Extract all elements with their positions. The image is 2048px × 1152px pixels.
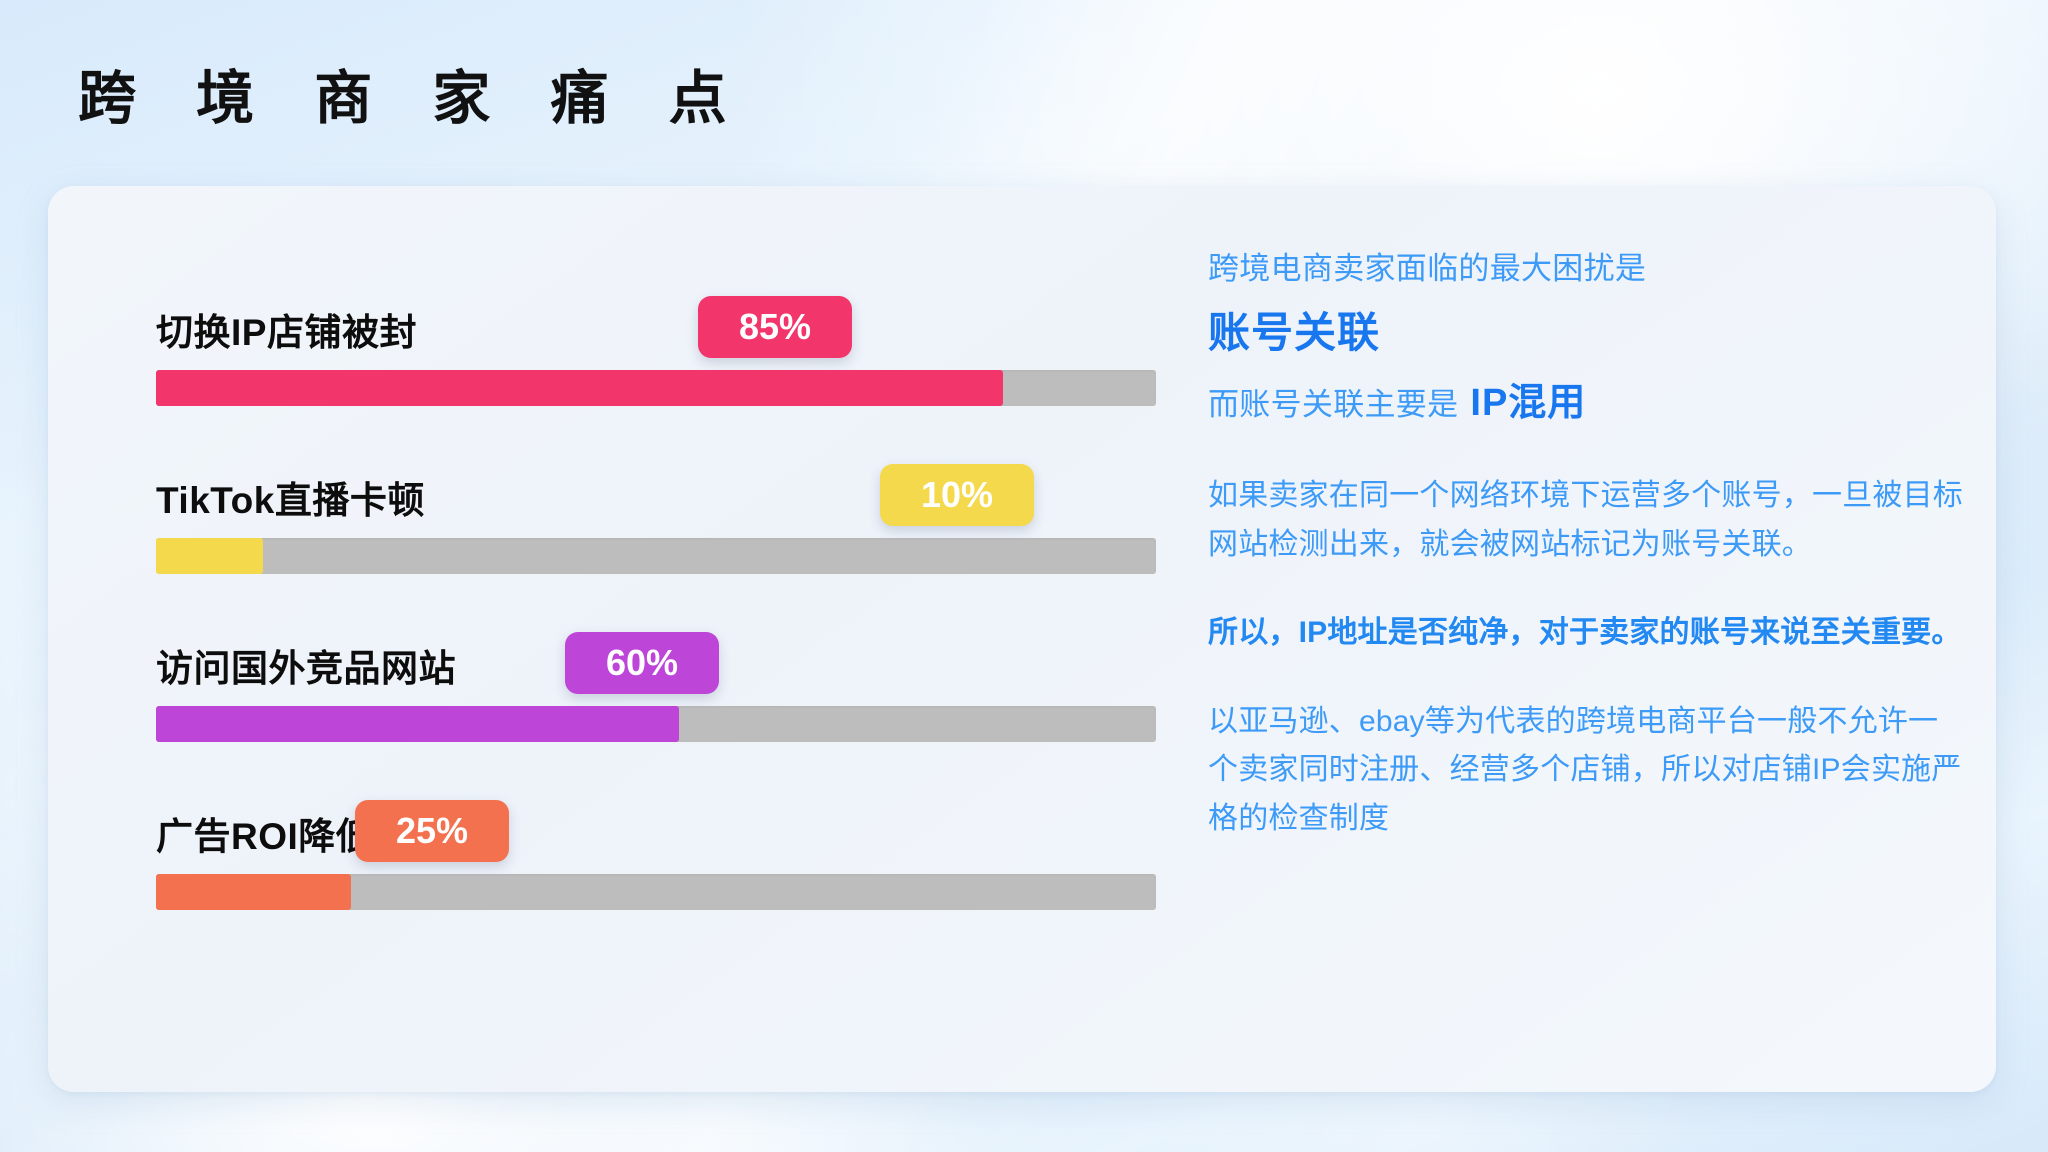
bar-label: TikTok直播卡顿	[156, 470, 425, 524]
paragraph-two: 所以，IP地址是否纯净，对于卖家的账号来说至关重要。	[1208, 609, 1968, 658]
paragraph-three: 以亚马逊、ebay等为代表的跨境电商平台一般不允许一个卖家同时注册、经营多个店铺…	[1208, 698, 1968, 844]
bar-fill	[156, 874, 351, 910]
bar-row-header: 切换IP店铺被封 85%	[108, 296, 1168, 370]
bar-fill	[156, 538, 263, 574]
lead-line: 跨境电商卖家面临的最大困扰是	[1208, 246, 1968, 293]
page-title: 跨 境 商 家 痛 点	[78, 70, 749, 128]
lead-keyword-heading: 账号关联	[1208, 307, 1968, 360]
bar-fill	[156, 706, 679, 742]
bar-value-badge: 85%	[698, 296, 852, 358]
bar-row: 切换IP店铺被封 85%	[108, 296, 1168, 406]
bar-row-header: TikTok直播卡顿 10%	[108, 464, 1168, 538]
bar-label: 切换IP店铺被封	[156, 302, 417, 356]
bar-value-badge: 60%	[565, 632, 719, 694]
bar-row-header: 访问国外竞品网站 60%	[108, 632, 1168, 706]
bar-value-badge: 25%	[355, 800, 509, 862]
bar-row: 访问国外竞品网站 60%	[108, 632, 1168, 742]
bar-track	[156, 538, 1156, 574]
lead-secondary-line: 而账号关联主要是IP混用	[1208, 375, 1968, 432]
bar-row-header: 广告ROI降低 25%	[108, 800, 1168, 874]
explanation-panel: 跨境电商卖家面临的最大困扰是 账号关联 而账号关联主要是IP混用 如果卖家在同一…	[1208, 246, 1968, 844]
bar-label: 访问国外竞品网站	[156, 638, 456, 692]
content-card: 切换IP店铺被封 85% TikTok直播卡顿 10% 访问国外竞品网站 60%	[48, 186, 1996, 1092]
bar-fill	[156, 370, 1003, 406]
lead-secondary-prefix: 而账号关联主要是	[1208, 387, 1458, 422]
bar-track	[156, 370, 1156, 406]
bar-row: TikTok直播卡顿 10%	[108, 464, 1168, 574]
bar-value-badge: 10%	[880, 464, 1034, 526]
bar-row: 广告ROI降低 25%	[108, 800, 1168, 910]
pain-point-bar-chart: 切换IP店铺被封 85% TikTok直播卡顿 10% 访问国外竞品网站 60%	[108, 238, 1168, 1048]
lead-secondary-keyword: IP混用	[1470, 382, 1586, 424]
paragraph-one: 如果卖家在同一个网络环境下运营多个账号，一旦被目标网站检测出来，就会被网站标记为…	[1208, 472, 1968, 569]
bar-track	[156, 874, 1156, 910]
bar-track	[156, 706, 1156, 742]
bar-label: 广告ROI降低	[156, 806, 373, 860]
